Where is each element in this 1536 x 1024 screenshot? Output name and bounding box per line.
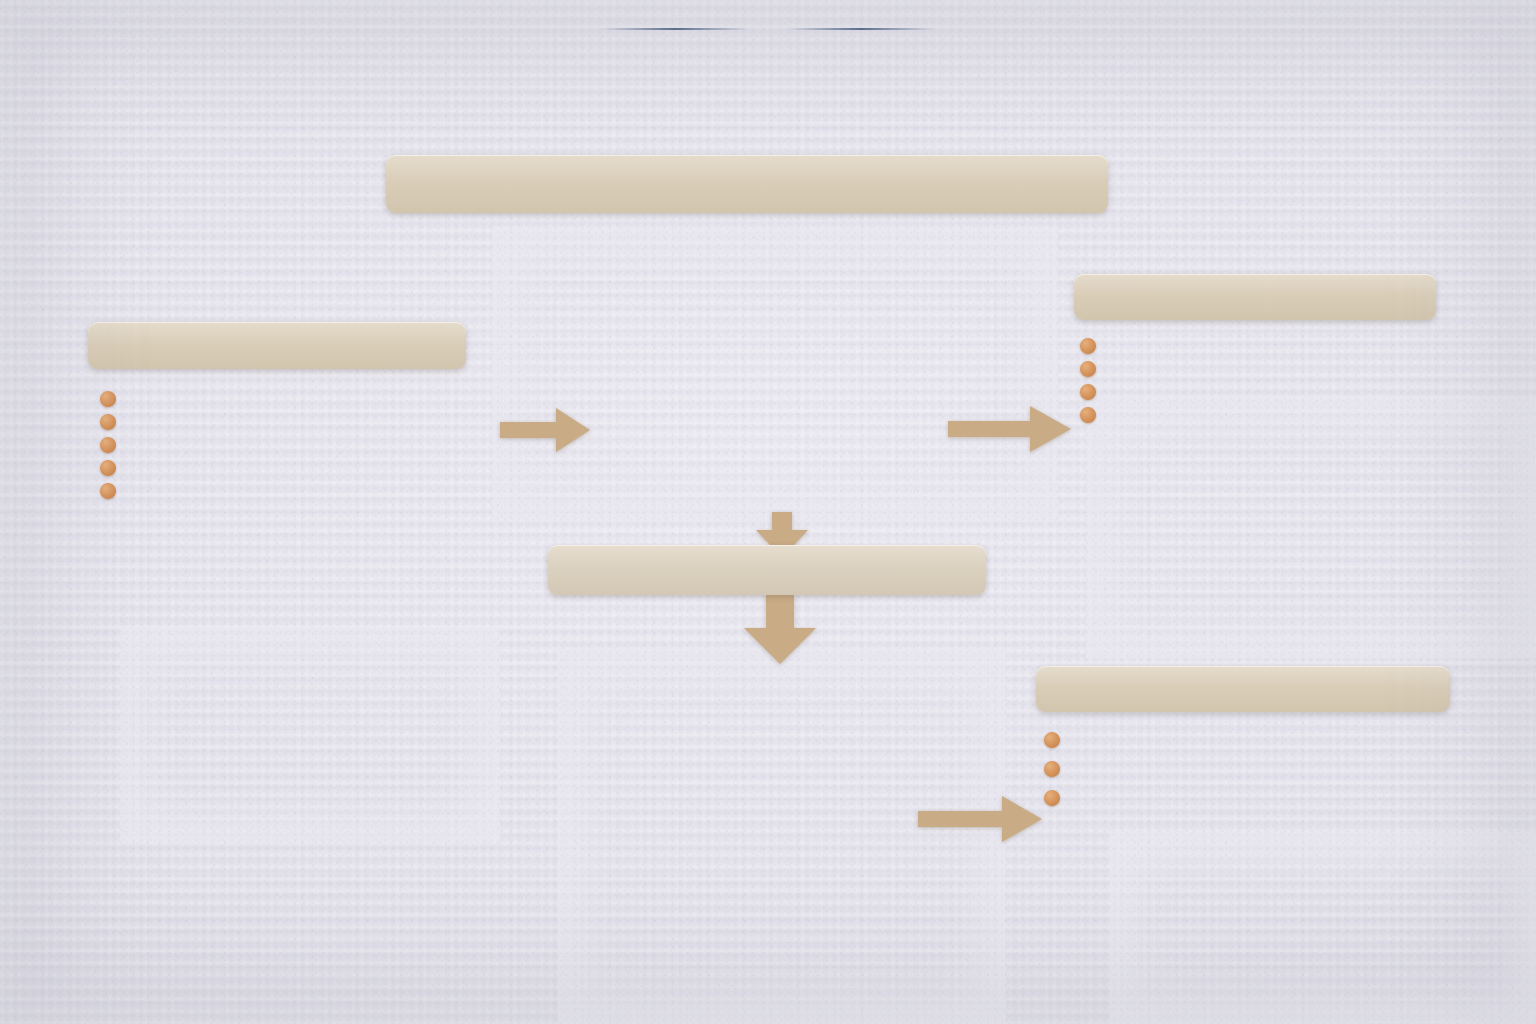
bullet-dot-icon [100,460,116,476]
arrow-label-down-to-bottom-icon [740,594,820,666]
bullet-dot-icon [100,391,116,407]
bullet-dot-icon [100,483,116,499]
scene-office [1086,396,1536,658]
rule-right [786,28,936,30]
list-item [100,391,466,407]
list-item [1080,407,1436,423]
panel-consequences-list [1080,338,1436,423]
list-item [1080,384,1436,400]
infographic-poster [0,0,1536,1024]
panel-emotions [88,322,466,506]
bullet-dot-icon [1080,338,1096,354]
panel-emotions-list [100,391,466,499]
list-item [1044,761,1450,777]
panel-relations-title [1036,666,1450,712]
arrow-center-to-consequences-icon [948,398,1073,460]
list-item [1044,732,1450,748]
arrow-left-to-center-icon [500,400,592,460]
bullet-dot-icon [1044,732,1060,748]
rule-left [600,28,750,30]
bullet-dot-icon [1044,761,1060,777]
list-item [100,483,466,499]
list-item [1080,338,1436,354]
panel-consequences-title [1074,274,1436,320]
arrow-bottom-to-relations-icon [918,790,1044,848]
banner-example-trauma [548,545,986,595]
scene-couple [1110,832,1536,1024]
panel-relations-list [1044,732,1450,806]
banner-burnout [386,155,1108,213]
poster-header [0,18,1536,30]
bullet-dot-icon [100,414,116,430]
panel-relations [1036,666,1450,813]
panel-consequences [1074,274,1436,430]
list-item [100,437,466,453]
bullet-dot-icon [1080,384,1096,400]
list-item [100,460,466,476]
list-item [1080,361,1436,377]
scene-insomnia [120,628,500,844]
subtitle-row [0,28,1536,30]
scene-center-top [492,226,1058,522]
list-item [1044,790,1450,806]
list-item [100,414,466,430]
bullet-dot-icon [1044,790,1060,806]
bullet-dot-icon [1080,407,1096,423]
bullet-dot-icon [1080,361,1096,377]
bullet-dot-icon [100,437,116,453]
panel-emotions-title [88,322,466,369]
